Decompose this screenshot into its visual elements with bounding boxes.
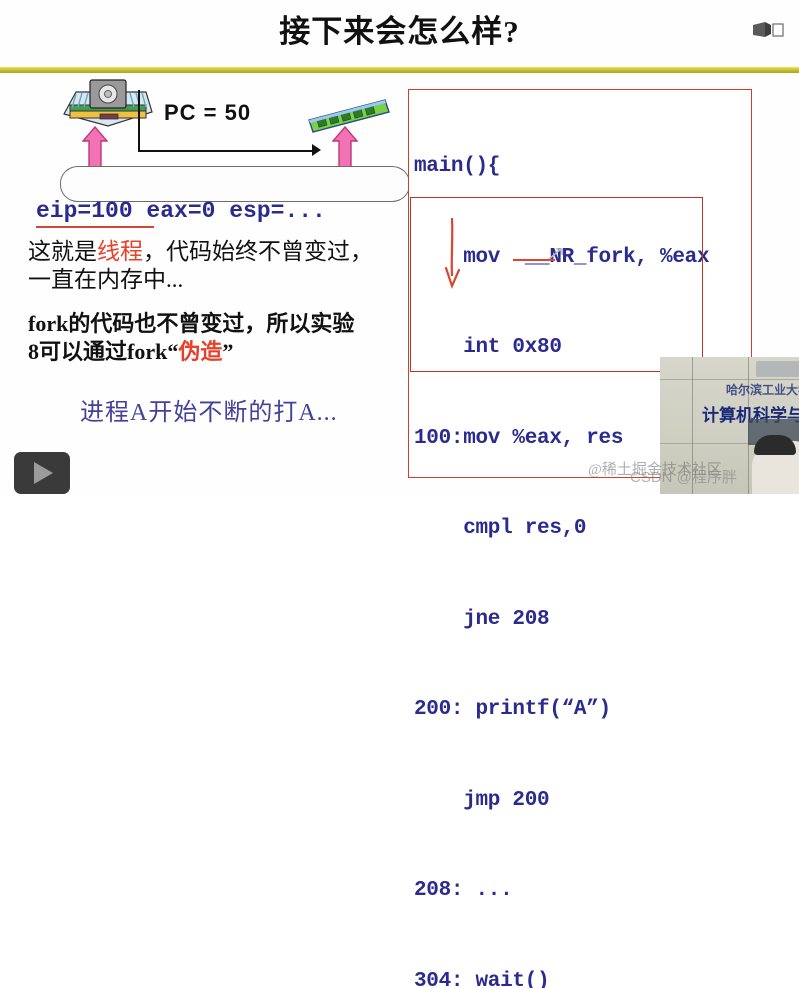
code-line-1: mov __NR_fork, %eax [414, 243, 754, 273]
box-3d-icon [751, 20, 785, 40]
code-line-0: main(){ [414, 152, 754, 182]
para2-highlight-forge: 伪造 [178, 339, 222, 364]
thread-description-paragraph: 这就是线程，代码始终不曾变过， 一直在内存中... [28, 238, 408, 294]
play-button[interactable] [14, 452, 70, 494]
university-logo [756, 361, 799, 377]
system-bus [60, 166, 410, 202]
title-divider [0, 67, 799, 73]
para1-highlight-thread: 线程 [97, 239, 143, 264]
pc-value-label: PC = 50 [164, 100, 251, 126]
play-triangle-icon [34, 462, 53, 484]
code-line-9: 304: wait() [414, 967, 754, 988]
code-listing: main(){ mov __NR_fork, %eax int 0x80 100… [414, 92, 754, 988]
code-line-5: jne 208 [414, 605, 754, 635]
pc-arrow-head [312, 144, 321, 156]
register-underline [36, 226, 154, 228]
para2-part-b: 8可以通过fork“ [28, 339, 178, 364]
watermark-secondary: CSDN @程序胖 [630, 466, 737, 487]
video-wall-text-top: 哈尔滨工业大学 [726, 381, 799, 398]
conclusion-text: 进程A开始不断的打A... [80, 392, 338, 427]
register-state-text: eip=100 eax=0 esp=... [36, 198, 326, 224]
code-line-6: 200: printf(“A”) [414, 695, 754, 725]
red-down-arrow-icon [443, 216, 465, 290]
res-arrow-tick-icon [548, 248, 566, 261]
wall-seam-3 [660, 379, 799, 380]
slide-canvas: 接下来会怎么样? [0, 0, 799, 494]
para2-part-c: ” [222, 339, 233, 364]
fork-description-paragraph: fork的代码也不曾变过，所以实验 8可以通过fork“伪造” [28, 310, 416, 365]
cpu-bus-arrow-icon [82, 126, 108, 170]
para1-part-b: ，代码始终不曾变过， [143, 239, 373, 264]
ram-bus-arrow-icon [332, 126, 358, 170]
pc-axis-vertical [138, 90, 140, 152]
pc-axis-horizontal [138, 150, 316, 152]
lecturer-head [754, 435, 796, 455]
para1-part-c: 一直在内存中... [28, 267, 183, 292]
code-line-7: jmp 200 [414, 786, 754, 816]
page-title: 接下来会怎么样? [0, 6, 799, 51]
para1-part-a: 这就是 [28, 239, 97, 264]
cpu-chip-icon [60, 78, 156, 132]
code-line-4: cmpl res,0 [414, 514, 754, 544]
code-line-8: 208: ... [414, 876, 754, 906]
hardware-illustration: PC = 50 [22, 78, 402, 188]
para2-part-a: fork的代码也不曾变过，所以实验 [28, 311, 354, 336]
